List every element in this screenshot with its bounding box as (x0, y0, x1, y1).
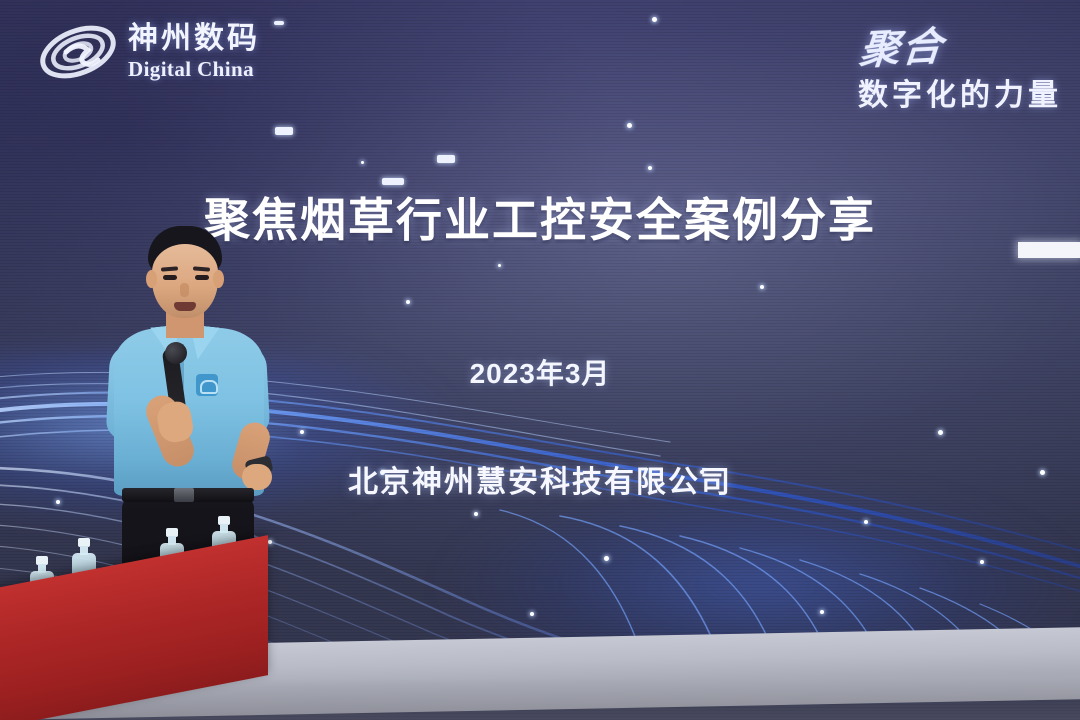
presenter-eye-left (163, 275, 177, 280)
screen-edge-light-bar (1018, 242, 1080, 258)
logo-wordmark: 神州数码 Digital China (128, 24, 260, 80)
presenter-ear-right (213, 270, 224, 288)
shirt-chest-logo (196, 374, 218, 396)
presenter-right-hand (242, 464, 272, 490)
presenter-mouth (174, 302, 196, 311)
logo-english-name: Digital China (128, 59, 260, 80)
presenter-eye-right (195, 275, 209, 280)
slogan-calligraphy: 聚合 (855, 14, 947, 76)
slogan-subtitle: 数字化的力量 (858, 70, 1062, 114)
swirl-logo-icon (36, 16, 120, 88)
logo-chinese-name: 神州数码 (128, 24, 260, 54)
presenter-ear-left (146, 270, 157, 288)
event-slogan: 聚合 数字化的力量 (858, 16, 1062, 114)
digital-china-logo: 神州数码 Digital China (36, 16, 260, 88)
presenter-nose (180, 283, 189, 297)
stage-photo: 神州数码 Digital China 聚合 数字化的力量 聚焦烟草行业工控安全案… (0, 0, 1080, 720)
belt-buckle (174, 488, 194, 502)
